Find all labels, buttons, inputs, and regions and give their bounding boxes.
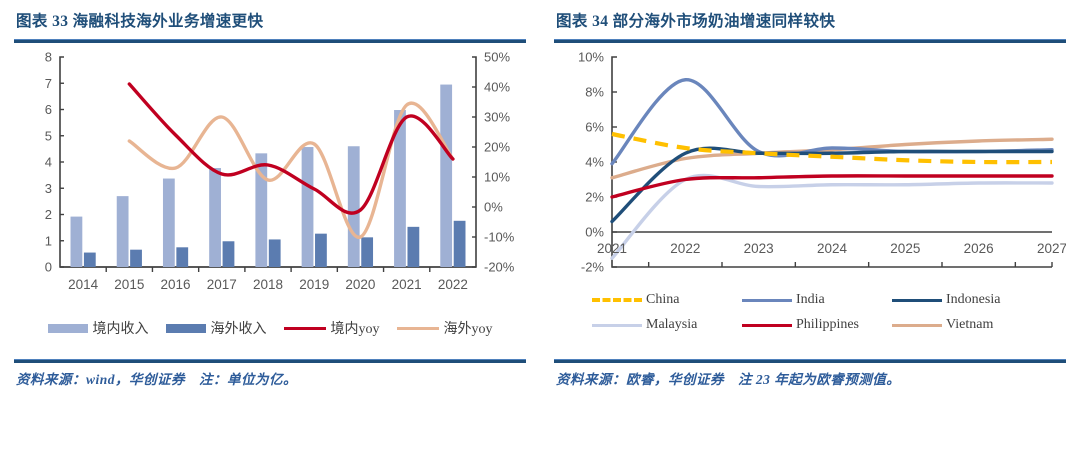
bar-domestic-revenue — [71, 217, 83, 267]
legend-item-india[interactable]: India — [742, 292, 892, 308]
y2-axis-tick-label: 0% — [484, 200, 503, 215]
legend-swatch-bar-overseas — [166, 324, 206, 333]
legend-label-india: India — [796, 292, 825, 308]
y-axis-tick-label: 4% — [585, 155, 604, 170]
y-axis-tick-label: 10% — [578, 50, 604, 65]
legend-item-china[interactable]: China — [592, 292, 742, 308]
legend-item-overseas-revenue[interactable]: 海外收入 — [166, 318, 267, 338]
figure-33-legend: 境内收入 海外收入 境内yoy 海外yoy — [0, 318, 540, 338]
legend-label-malaysia: Malaysia — [646, 317, 697, 333]
legend-item-overseas-yoy[interactable]: 海外yoy — [397, 318, 493, 338]
x-axis-tick-label: 2018 — [253, 277, 283, 292]
figure-33-source: 资料来源：wind，华创证券 注：单位为亿。 — [16, 368, 297, 388]
x-axis-tick-label: 2024 — [817, 241, 848, 256]
legend-label-domestic-revenue: 境内收入 — [93, 318, 149, 338]
figure-33-panel: 图表 33 海融科技海外业务增速更快 012345678-20%-10%0%10… — [0, 0, 540, 455]
legend-swatch-india — [742, 299, 792, 302]
legend-row-2: Malaysia Philippines Vietnam — [592, 317, 1042, 333]
x-axis-tick-label: 2022 — [438, 277, 468, 292]
y-axis-tick-label: 0% — [585, 225, 604, 240]
figure-34-plot: -2%0%2%4%6%8%10%202120222023202420252026… — [554, 49, 1066, 289]
bar-overseas-revenue — [454, 221, 466, 267]
figure-33-title-rule — [14, 39, 526, 43]
legend-label-china: China — [646, 292, 679, 308]
bar-overseas-revenue — [407, 227, 419, 267]
legend-swatch-malaysia — [592, 324, 642, 327]
legend-label-vietnam: Vietnam — [946, 317, 993, 333]
y2-axis-tick-label: 30% — [484, 110, 510, 125]
legend-swatch-vietnam — [892, 324, 942, 327]
figure-34-legend: China India Indonesia Malaysia — [568, 292, 1066, 333]
legend-row-1: China India Indonesia — [592, 292, 1042, 308]
figure-34-svg: -2%0%2%4%6%8%10%202120222023202420252026… — [554, 49, 1066, 299]
bar-domestic-revenue — [348, 146, 360, 267]
bar-overseas-revenue — [84, 253, 96, 267]
x-axis-tick-label: 2021 — [597, 241, 627, 256]
bar-overseas-revenue — [176, 247, 188, 267]
figure-34-panel: 图表 34 部分海外市场奶油增速同样较快 -2%0%2%4%6%8%10%202… — [540, 0, 1080, 455]
legend-item-domestic-yoy[interactable]: 境内yoy — [284, 318, 380, 338]
legend-label-philippines: Philippines — [796, 317, 859, 333]
y-axis-tick-label: 6% — [585, 120, 604, 135]
legend-label-overseas-yoy: 海外yoy — [444, 318, 493, 338]
x-axis-tick-label: 2027 — [1037, 241, 1066, 256]
legend-item-malaysia[interactable]: Malaysia — [592, 317, 742, 333]
figure-33-title: 图表 33 海融科技海外业务增速更快 — [14, 0, 526, 31]
y2-axis-tick-label: 50% — [484, 50, 510, 65]
y-axis-tick-label: 8 — [45, 50, 52, 65]
figure-34-source: 资料来源：欧睿，华创证券 注 23 年起为欧睿预测值。 — [556, 368, 900, 388]
figure-33-svg: 012345678-20%-10%0%10%20%30%40%50%201420… — [14, 49, 526, 299]
x-axis-tick-label: 2020 — [345, 277, 375, 292]
x-axis-tick-label: 2021 — [392, 277, 422, 292]
legend-swatch-china — [592, 298, 642, 302]
figure-34-title: 图表 34 部分海外市场奶油增速同样较快 — [554, 0, 1066, 31]
y-axis-tick-label: 8% — [585, 85, 604, 100]
y2-axis-tick-label: 40% — [484, 80, 510, 95]
bar-overseas-revenue — [315, 234, 327, 267]
legend-swatch-indonesia — [892, 299, 942, 302]
bar-domestic-revenue — [209, 168, 221, 267]
figure-34-source-rule — [554, 359, 1066, 363]
y-axis-tick-label: 7 — [45, 76, 52, 91]
x-axis-tick-label: 2023 — [744, 241, 774, 256]
x-axis-tick-label: 2016 — [161, 277, 191, 292]
y-axis-tick-label: 1 — [45, 233, 52, 248]
legend-item-domestic-revenue[interactable]: 境内收入 — [48, 318, 149, 338]
y2-axis-tick-label: -20% — [484, 260, 515, 275]
legend-swatch-line-domestic-yoy — [284, 327, 326, 330]
x-axis-tick-label: 2014 — [68, 277, 99, 292]
y-axis-tick-label: 0 — [45, 260, 52, 275]
y-axis-tick-label: 5 — [45, 128, 52, 143]
x-axis-tick-label: 2019 — [299, 277, 329, 292]
legend-label-indonesia: Indonesia — [946, 292, 1000, 308]
y-axis-tick-label: 2% — [585, 190, 604, 205]
bar-overseas-revenue — [361, 237, 373, 267]
x-axis-tick-label: 2025 — [890, 241, 920, 256]
legend-swatch-philippines — [742, 324, 792, 327]
y2-axis-tick-label: 10% — [484, 170, 510, 185]
x-axis-tick-label: 2017 — [207, 277, 237, 292]
bar-overseas-revenue — [130, 250, 142, 267]
bar-domestic-revenue — [440, 85, 452, 267]
figure-34-title-rule — [554, 39, 1066, 43]
bar-domestic-revenue — [163, 179, 175, 267]
legend-label-overseas-revenue: 海外收入 — [211, 318, 267, 338]
legend-item-indonesia[interactable]: Indonesia — [892, 292, 1042, 308]
legend-swatch-bar-domestic — [48, 324, 88, 333]
legend-label-domestic-yoy: 境内yoy — [331, 318, 380, 338]
bar-overseas-revenue — [223, 241, 235, 267]
figure-33-plot: 012345678-20%-10%0%10%20%30%40%50%201420… — [14, 49, 526, 289]
x-axis-tick-label: 2022 — [670, 241, 700, 256]
legend-swatch-line-overseas-yoy — [397, 327, 439, 330]
y-axis-tick-label: 3 — [45, 181, 52, 196]
x-axis-tick-label: 2026 — [964, 241, 994, 256]
bar-domestic-revenue — [117, 196, 129, 267]
legend-item-vietnam[interactable]: Vietnam — [892, 317, 1042, 333]
figures-page: 图表 33 海融科技海外业务增速更快 012345678-20%-10%0%10… — [0, 0, 1080, 455]
y2-axis-tick-label: -10% — [484, 230, 515, 245]
legend-item-philippines[interactable]: Philippines — [742, 317, 892, 333]
figure-33-source-rule — [14, 359, 526, 363]
y-axis-tick-label: 6 — [45, 102, 52, 117]
bar-overseas-revenue — [269, 239, 281, 267]
y-axis-tick-label: 4 — [45, 155, 52, 170]
y2-axis-tick-label: 20% — [484, 140, 510, 155]
y-axis-tick-label: 2 — [45, 207, 52, 222]
bar-domestic-revenue — [302, 147, 314, 267]
x-axis-tick-label: 2015 — [114, 277, 144, 292]
y-axis-tick-label: -2% — [581, 260, 605, 275]
